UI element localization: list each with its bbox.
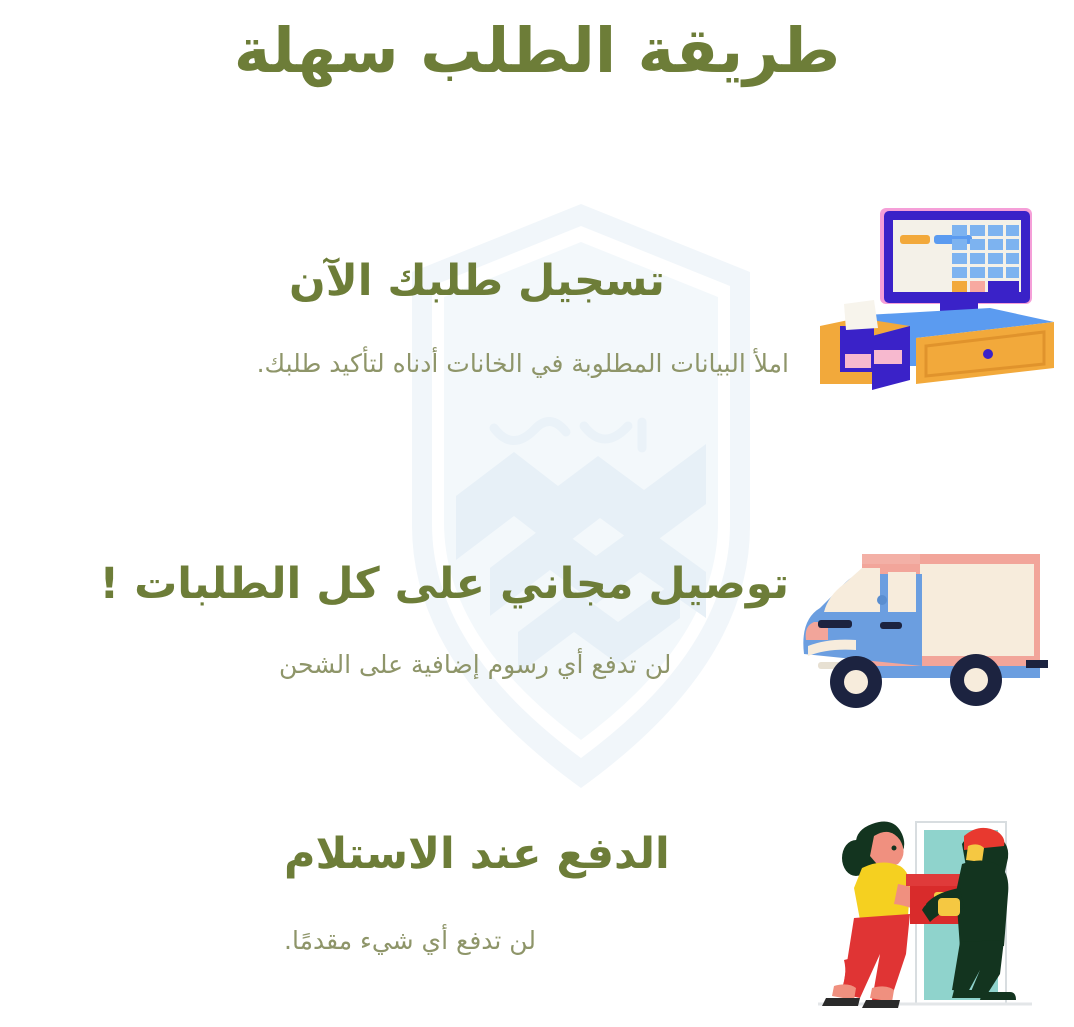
section-cash-on-delivery-heading: الدفع عند الاستلام bbox=[284, 828, 784, 882]
section-register-order-heading: تسجيل طلبك الآن bbox=[289, 255, 789, 309]
section-free-shipping-heading: توصيل مجاني على كل الطلبات ! bbox=[279, 558, 789, 612]
section-register-order-texts: تسجيل طلبك الآن املأ البيانات المطلوبة ف… bbox=[289, 255, 789, 381]
cash-on-delivery-icon bbox=[812, 818, 1038, 1018]
section-register-order-subtitle: املأ البيانات المطلوبة في الخانات أدناه … bbox=[289, 347, 789, 381]
section-free-shipping-subtitle: لن تدفع أي رسوم إضافية على الشحن bbox=[279, 648, 789, 682]
section-free-shipping-texts: توصيل مجاني على كل الطلبات ! لن تدفع أي … bbox=[279, 558, 789, 682]
promo-page: طريقة الطلب سهلة تسجيل طلبك الآن املأ ال… bbox=[0, 0, 1074, 1027]
section-cash-on-delivery-texts: الدفع عند الاستلام لن تدفع أي شيء مقدمًا… bbox=[284, 828, 784, 958]
page-title: طريقة الطلب سهلة bbox=[0, 14, 1074, 87]
desktop-computer-icon bbox=[812, 204, 1058, 400]
delivery-truck-icon bbox=[790, 542, 1052, 722]
section-cash-on-delivery-subtitle: لن تدفع أي شيء مقدمًا. bbox=[284, 924, 784, 958]
